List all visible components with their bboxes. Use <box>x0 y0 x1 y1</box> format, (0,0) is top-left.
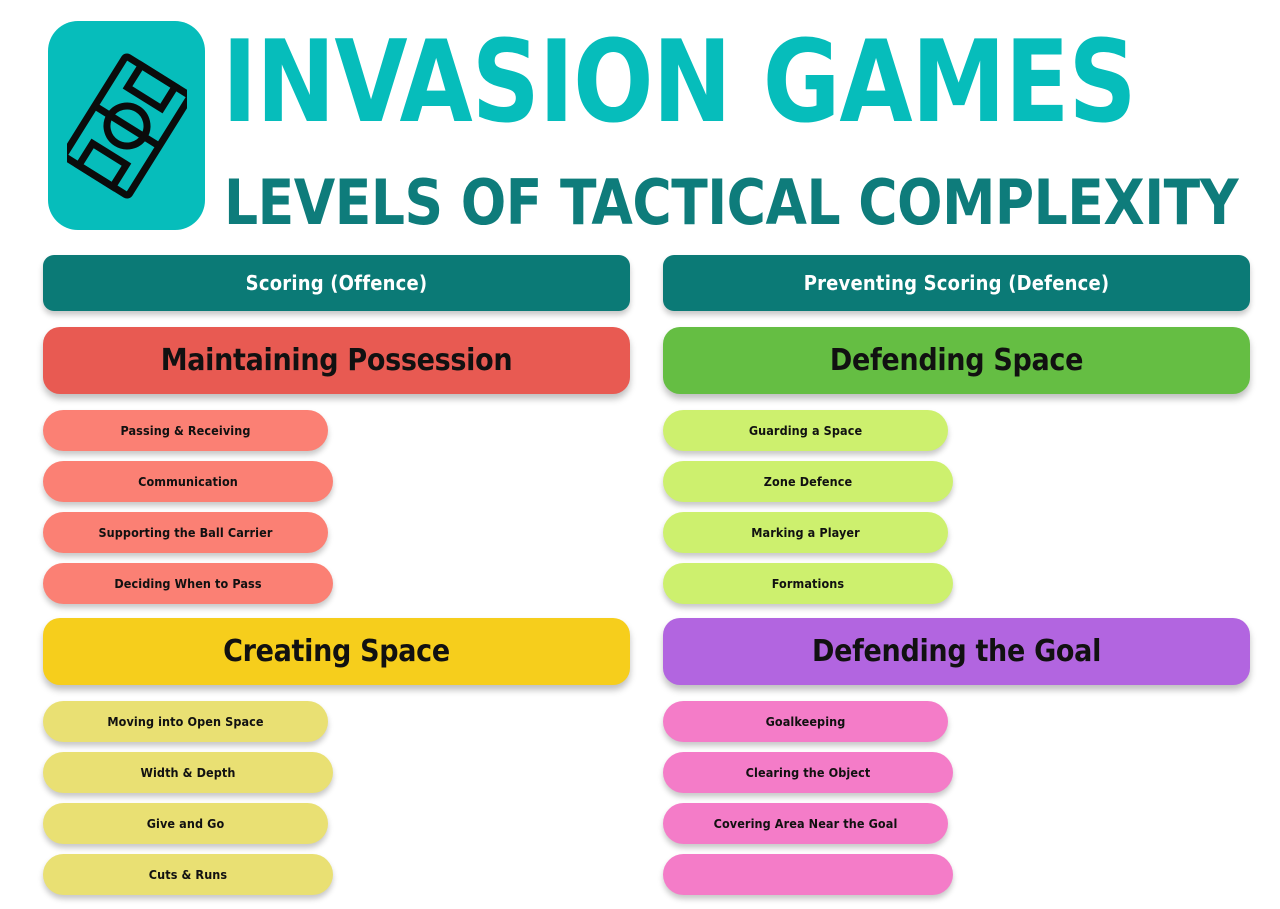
subitem-pill[interactable]: Communication <box>43 461 333 502</box>
category-title-label: Defending Space <box>830 343 1083 378</box>
category-defending-space: Defending Space Guarding a Space Zone De… <box>663 327 1250 604</box>
title-block: INVASION GAMES LEVELS OF TACTICAL COMPLE… <box>222 18 1222 234</box>
subitem-pill[interactable]: Give and Go <box>43 803 328 844</box>
subitem-label: Formations <box>772 577 844 591</box>
subitem-pill[interactable]: Covering Area Near the Goal <box>663 803 948 844</box>
page-header: INVASION GAMES LEVELS OF TACTICAL COMPLE… <box>0 0 1280 240</box>
column-header-defence-label: Preventing Scoring (Defence) <box>804 271 1110 295</box>
subitem-pill[interactable]: Supporting the Ball Carrier <box>43 512 328 553</box>
column-header-defence: Preventing Scoring (Defence) <box>663 255 1250 311</box>
subitem-label: Clearing the Object <box>746 766 871 780</box>
subitem-label: Zone Defence <box>764 475 852 489</box>
subitem-pill-empty[interactable] <box>663 854 953 895</box>
category-title-creating-space[interactable]: Creating Space <box>43 618 630 685</box>
column-defence: Preventing Scoring (Defence) Defending S… <box>663 255 1250 909</box>
subitem-label: Deciding When to Pass <box>114 577 261 591</box>
subitem-pill[interactable]: Guarding a Space <box>663 410 948 451</box>
category-title-label: Maintaining Possession <box>161 343 513 378</box>
category-title-defending-the-goal[interactable]: Defending the Goal <box>663 618 1250 685</box>
subitem-pill[interactable]: Zone Defence <box>663 461 953 502</box>
category-title-label: Defending the Goal <box>812 634 1101 669</box>
subitem-label: Passing & Receiving <box>120 424 250 438</box>
subitem-pill[interactable]: Marking a Player <box>663 512 948 553</box>
subitem-label: Guarding a Space <box>749 424 862 438</box>
logo-tile <box>48 21 205 230</box>
invasion-games-pitch-logo-icon <box>67 51 187 201</box>
subitem-label: Cuts & Runs <box>149 868 227 882</box>
category-maintaining-possession: Maintaining Possession Passing & Receivi… <box>43 327 630 604</box>
subitem-label: Give and Go <box>147 817 225 831</box>
column-header-offence-label: Scoring (Offence) <box>246 271 428 295</box>
category-creating-space: Creating Space Moving into Open Space Wi… <box>43 618 630 895</box>
subitem-label: Communication <box>138 475 238 489</box>
subitem-grid-defending-space: Guarding a Space Zone Defence Marking a … <box>663 410 1250 604</box>
infographic-page: INVASION GAMES LEVELS OF TACTICAL COMPLE… <box>0 0 1280 722</box>
category-defending-the-goal: Defending the Goal Goalkeeping Clearing … <box>663 618 1250 895</box>
page-title: INVASION GAMES <box>222 18 1152 146</box>
category-title-defending-space[interactable]: Defending Space <box>663 327 1250 394</box>
subitem-label: Supporting the Ball Carrier <box>98 526 272 540</box>
subitem-grid-defending-the-goal: Goalkeeping Clearing the Object Covering… <box>663 701 1250 895</box>
subitem-pill[interactable]: Width & Depth <box>43 752 333 793</box>
column-header-offence: Scoring (Offence) <box>43 255 630 311</box>
subitem-grid-maintaining-possession: Passing & Receiving Communication Suppor… <box>43 410 630 604</box>
page-subtitle: LEVELS OF TACTICAL COMPLEXITY <box>224 168 1194 238</box>
category-title-maintaining-possession[interactable]: Maintaining Possession <box>43 327 630 394</box>
column-offence: Scoring (Offence) Maintaining Possession… <box>43 255 630 909</box>
subitem-pill[interactable]: Passing & Receiving <box>43 410 328 451</box>
category-title-label: Creating Space <box>223 634 450 669</box>
subitem-pill[interactable]: Cuts & Runs <box>43 854 333 895</box>
subitem-pill[interactable]: Formations <box>663 563 953 604</box>
subitem-pill[interactable]: Deciding When to Pass <box>43 563 333 604</box>
subitem-pill[interactable]: Clearing the Object <box>663 752 953 793</box>
subitem-label: Marking a Player <box>751 526 860 540</box>
subitem-label: Width & Depth <box>140 766 235 780</box>
subitem-label: Covering Area Near the Goal <box>714 817 898 831</box>
subitem-grid-creating-space: Moving into Open Space Width & Depth Giv… <box>43 701 630 895</box>
